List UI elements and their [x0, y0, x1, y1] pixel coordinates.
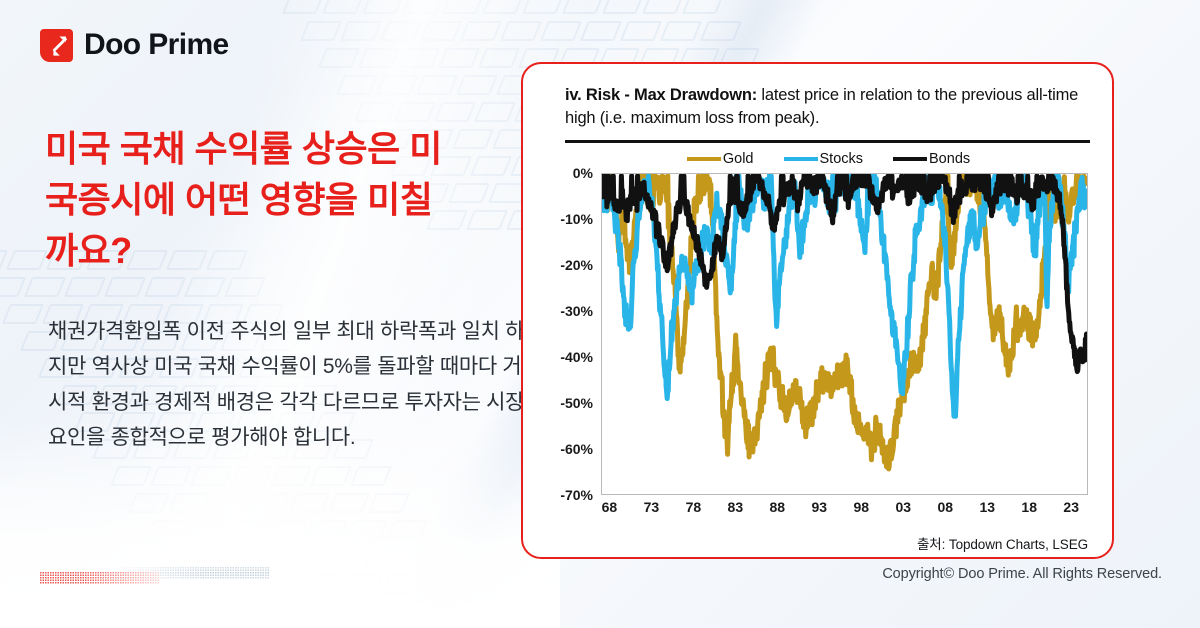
legend-label: Stocks — [820, 151, 864, 167]
legend-swatch-stocks — [784, 157, 818, 161]
x-tick-label: 93 — [812, 499, 828, 515]
brand-logo: Doo Prime — [40, 28, 229, 62]
y-tick-label: -60% — [560, 441, 593, 457]
x-tick-label: 18 — [1021, 499, 1037, 515]
chart-legend: GoldStocksBonds — [543, 151, 1090, 167]
legend-item-gold: Gold — [687, 151, 754, 167]
x-tick-label: 03 — [895, 499, 911, 515]
y-tick-label: -20% — [560, 257, 593, 273]
x-tick-label: 88 — [770, 499, 786, 515]
x-tick-label: 23 — [1063, 499, 1079, 515]
y-tick-label: -10% — [560, 211, 593, 227]
doo-prime-logo-icon — [40, 29, 73, 62]
chart-source: 출처: Topdown Charts, LSEG — [917, 533, 1088, 553]
page-title: 미국 국채 수익률 상승은 미국증시에 어떤 영향을 미칠까요? — [45, 123, 445, 276]
legend-item-stocks: Stocks — [784, 151, 864, 167]
chart-title-bold: iv. Risk - Max Drawdown: — [565, 86, 757, 104]
x-tick-label: 78 — [686, 499, 702, 515]
plot-box — [601, 173, 1088, 495]
x-tick-label: 13 — [979, 499, 995, 515]
y-tick-label: -40% — [560, 349, 593, 365]
chart-card: iv. Risk - Max Drawdown: latest price in… — [521, 62, 1114, 559]
y-tick-label: 0% — [573, 165, 593, 181]
title-divider — [565, 140, 1090, 143]
plot-area: 0%-10%-20%-30%-40%-50%-60%-70% 687378838… — [543, 173, 1090, 521]
legend-label: Bonds — [929, 151, 970, 167]
x-tick-label: 98 — [853, 499, 869, 515]
body-paragraph: 채권가격환입폭 이전 주식의 일부 최대 하락폭과 일치 하지만 역사상 미국 … — [48, 314, 526, 455]
legend-label: Gold — [723, 151, 754, 167]
x-tick-label: 73 — [644, 499, 660, 515]
y-tick-label: -50% — [560, 395, 593, 411]
dot-pattern-decoration — [40, 562, 270, 588]
copyright-text: Copyright© Doo Prime. All Rights Reserve… — [882, 566, 1162, 582]
x-axis: 687378838893980308131823 — [601, 499, 1088, 519]
x-tick-label: 08 — [937, 499, 953, 515]
y-tick-label: -70% — [560, 487, 593, 503]
chart-lines — [602, 174, 1087, 494]
legend-item-bonds: Bonds — [893, 151, 970, 167]
brand-name: Doo Prime — [84, 28, 229, 62]
legend-swatch-bonds — [893, 157, 927, 161]
legend-swatch-gold — [687, 157, 721, 161]
x-tick-label: 83 — [728, 499, 744, 515]
y-axis: 0%-10%-20%-30%-40%-50%-60%-70% — [543, 173, 599, 495]
y-tick-label: -30% — [560, 303, 593, 319]
chart-title: iv. Risk - Max Drawdown: latest price in… — [543, 84, 1090, 131]
x-tick-label: 68 — [602, 499, 618, 515]
